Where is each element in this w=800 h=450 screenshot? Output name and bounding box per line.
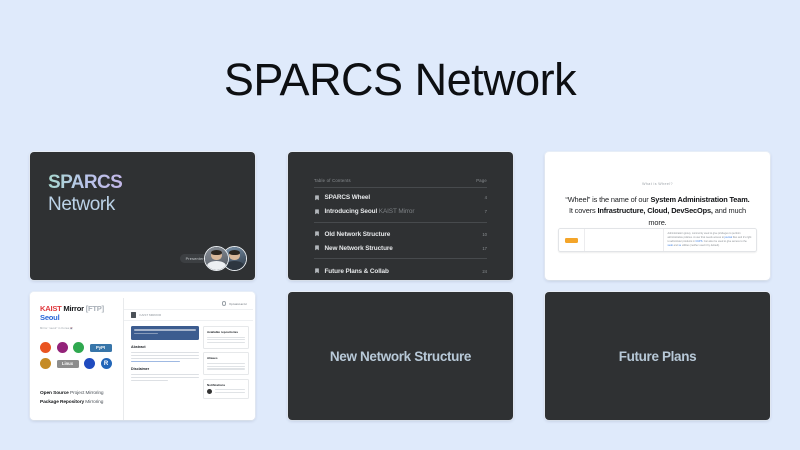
wheel-line-1-pre: “Wheel” is the name of our	[565, 195, 650, 204]
bookmark-icon	[314, 195, 320, 201]
what-is-wheel-slide[interactable]: What is Wheel? “Wheel” is the name of ou…	[545, 152, 770, 280]
text-line	[131, 377, 199, 378]
toc-item-page: 17	[482, 246, 487, 251]
definition-tag-cell	[559, 229, 585, 251]
avatar	[204, 246, 229, 271]
kaist-mirror-title-gray: [FTP]	[84, 304, 104, 313]
toc-item-left: Introducing Seoul KAIST Mirror	[314, 208, 414, 215]
toc-item-label-main: Introducing Seoul	[325, 208, 379, 215]
future-plans-heading: Future Plans	[619, 349, 697, 364]
toc-item[interactable]: SPARCS Wheel 4	[314, 191, 487, 205]
avatar-body	[207, 261, 227, 271]
mirror-bullet-list: Open Source Project Mirroring Package Re…	[40, 390, 103, 408]
toc-item-page: 10	[482, 232, 487, 237]
cran-r-logo: R	[101, 358, 112, 369]
toc-item[interactable]: New Network Structure 17	[314, 241, 487, 255]
list-item: Package Repository Mirroring	[40, 399, 103, 408]
browser-url: ftp.kaist.ac.kr	[229, 302, 247, 306]
divider-content: New Network Structure	[288, 292, 513, 420]
browser-tab[interactable]: KAIST MIRROR	[124, 310, 253, 321]
wheel-line-2-pre: It covers	[569, 206, 597, 215]
sidebar-card-title: Available repositories	[207, 330, 245, 334]
wheel-line-2: It covers Infrastructure, Cloud, DevSecO…	[561, 205, 754, 228]
kaist-mirror-title-red: KAIST	[40, 304, 62, 313]
slide-grid: SPARCS Network Presenters	[30, 152, 770, 420]
new-network-structure-heading: New Network Structure	[330, 349, 471, 364]
toc-item-label: Future Plans & Collab	[325, 268, 389, 275]
kaist-mirror-content: KAIST Mirror [FTP] Seoul Mirror “seoul” …	[30, 292, 255, 420]
toc-group: Future Plans & Collab 24	[314, 258, 487, 278]
mirror-bullet-bold: Package Repository	[40, 400, 84, 405]
wheel-line-2-bold: Infrastructure, Cloud, DevSecOps,	[597, 206, 712, 215]
linux-logo: Linux	[57, 360, 79, 368]
apache-logo	[73, 342, 84, 353]
kaist-mirror-title-dark: Mirror	[62, 304, 84, 313]
title-slide-subheading: Network	[48, 194, 255, 217]
browser-body: Abstract Disclaimer Avai	[124, 321, 253, 402]
future-plans-slide[interactable]: Future Plans	[545, 292, 770, 420]
toc-content: Table of Contents Page SPARCS Wheel 4	[288, 152, 513, 280]
mirror-bullet-bold: Open Source	[40, 391, 69, 396]
mirror-bullet-rest: Mirroring	[84, 400, 103, 405]
book-icon	[131, 312, 136, 318]
page-title: SPARCS Network	[0, 54, 800, 106]
text-line	[131, 358, 199, 359]
sidebar-card-title: Notifications	[207, 383, 245, 387]
browser-heading-disclaimer: Disclaimer	[131, 367, 199, 371]
table-of-contents-slide[interactable]: Table of Contents Page SPARCS Wheel 4	[288, 152, 513, 280]
browser-sidebar: Available repositories Aliases	[203, 326, 249, 402]
browser-tab-title: KAIST MIRROR	[140, 313, 162, 317]
text-line	[207, 339, 245, 340]
toc-item-label: Old Network Structure	[325, 231, 391, 238]
kaist-mirror-caption: Mirror “seoul” in Korea 🇰🇷	[40, 326, 118, 330]
browser-heading-abstract: Abstract	[131, 345, 199, 349]
toc-item-label: New Network Structure	[325, 245, 393, 252]
kaist-mirror-header: KAIST Mirror [FTP] Seoul Mirror “seoul” …	[40, 304, 118, 330]
title-slide-heading: SPARCS	[48, 172, 122, 193]
browser-address-bar[interactable]: ftp.kaist.ac.kr	[124, 298, 253, 310]
avatar	[207, 389, 212, 394]
definition-link-journal[interactable]: journal	[725, 236, 733, 239]
info-icon	[222, 301, 227, 306]
new-network-structure-slide[interactable]: New Network Structure	[288, 292, 513, 420]
toc-item-label: SPARCS Wheel	[325, 194, 371, 201]
ubuntu-logo	[40, 342, 51, 353]
sidebar-card-title: Aliases	[207, 356, 245, 360]
toc-header-left: Table of Contents	[314, 178, 351, 183]
bookmark-icon	[314, 231, 320, 237]
kaist-mirror-title: KAIST Mirror [FTP]	[40, 304, 118, 313]
notification-item	[207, 389, 245, 395]
sidebar-card-aliases: Aliases	[203, 352, 249, 375]
toc-item-page: 7	[485, 209, 487, 214]
kaist-mirror-slide[interactable]: KAIST Mirror [FTP] Seoul Mirror “seoul” …	[30, 292, 255, 420]
gnu-logo	[40, 358, 51, 369]
text-line	[131, 352, 199, 353]
toc-item-label: Introducing Seoul KAIST Mirror	[325, 208, 415, 215]
browser-mockup: ftp.kaist.ac.kr KAIST MIRROR Abstract	[123, 298, 253, 420]
toc-item-left: Future Plans & Collab	[314, 268, 389, 275]
toc-item-page: 4	[485, 195, 487, 200]
text-line	[207, 366, 245, 367]
list-item: Open Source Project Mirroring	[40, 390, 103, 399]
text-line	[207, 363, 245, 364]
bookmark-icon	[314, 245, 320, 251]
kaist-mirror-subtitle: Seoul	[40, 313, 118, 323]
definition-text-post: utilities (neither used it by default).	[681, 244, 720, 247]
avatar-hair	[211, 250, 223, 256]
text-line-link	[131, 361, 180, 362]
divider-content: Future Plans	[545, 292, 770, 420]
definition-spacer	[585, 229, 664, 251]
debian-logo	[84, 358, 95, 369]
text-line	[207, 368, 245, 369]
mirror-bullet-rest: Project Mirroring	[69, 391, 104, 396]
mirror-logo-row: PyPI Linux R	[40, 342, 126, 369]
text-line	[215, 389, 246, 390]
sidebar-card-notifications: Notifications	[203, 379, 249, 399]
browser-main-column: Abstract Disclaimer	[131, 326, 199, 402]
toc-item[interactable]: Future Plans & Collab 24	[314, 264, 487, 278]
bookmark-icon	[314, 268, 320, 274]
pypi-logo: PyPI	[90, 344, 112, 352]
browser-banner	[131, 326, 199, 340]
banner-line	[134, 329, 196, 331]
banner-line	[134, 333, 158, 335]
text-line	[131, 380, 168, 381]
text-line	[215, 392, 246, 393]
wheel-line-1-bold: System Administration Team.	[651, 195, 750, 204]
toc-item[interactable]: Old Network Structure 10	[314, 228, 487, 242]
presenters-group: Presenters	[180, 246, 247, 271]
wheel-eyebrow: What is Wheel?	[561, 182, 754, 186]
toc-item-label-muted: KAIST Mirror	[379, 208, 415, 215]
slide-overview-page: SPARCS Network SPARCS Network Presenters	[0, 0, 800, 450]
toc-item-left: New Network Structure	[314, 245, 393, 252]
toc-item-page: 24	[482, 269, 487, 274]
toc-item-left: SPARCS Wheel	[314, 194, 370, 201]
sidebar-card-repositories: Available repositories	[203, 326, 249, 349]
title-slide[interactable]: SPARCS Network Presenters	[30, 152, 255, 280]
wheel-content: What is Wheel? “Wheel” is the name of ou…	[545, 152, 770, 280]
text-line	[131, 355, 199, 356]
definition-tag	[565, 238, 578, 243]
toc-group: Old Network Structure 10 New Network Str…	[314, 222, 487, 256]
text-line	[131, 374, 199, 375]
bookmark-icon	[314, 209, 320, 215]
definition-box: Administration group, commonly used to g…	[558, 228, 757, 252]
text-line	[207, 337, 245, 338]
avatar-hair	[229, 250, 241, 256]
text-line	[207, 342, 245, 343]
toc-item[interactable]: Introducing Seoul KAIST Mirror 7	[314, 205, 487, 219]
wheel-line-1: “Wheel” is the name of our System Admini…	[561, 194, 754, 205]
toc-item-left: Old Network Structure	[314, 231, 390, 238]
centos-logo	[57, 342, 68, 353]
definition-text: Administration group, commonly used to g…	[664, 229, 756, 251]
toc-group: SPARCS Wheel 4 Introducing Seoul KAIST M…	[314, 188, 487, 219]
definition-text-mid2: . Can also be used to give access to the	[702, 240, 746, 243]
toc-header: Table of Contents Page	[314, 178, 487, 188]
toc-header-right: Page	[476, 178, 487, 183]
